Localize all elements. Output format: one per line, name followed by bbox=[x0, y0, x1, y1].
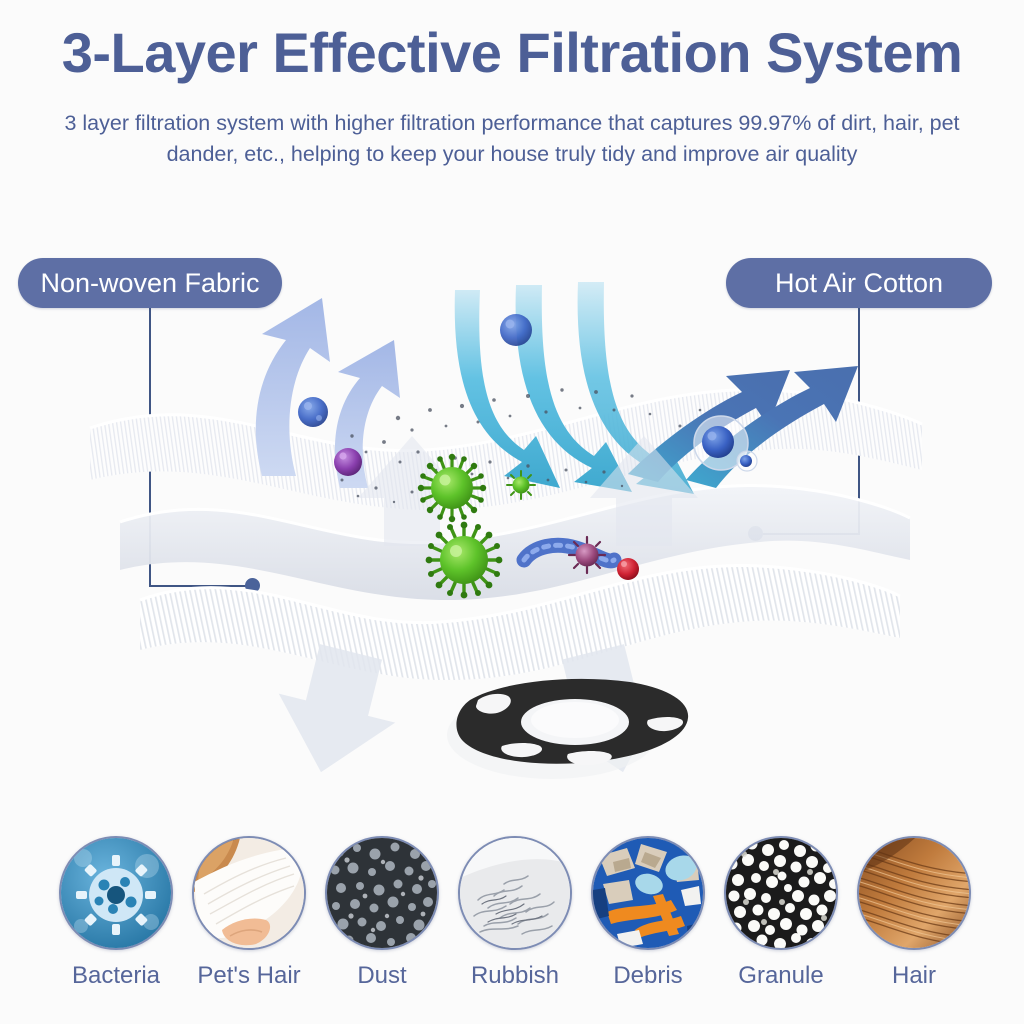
filter-layers-illustration bbox=[0, 230, 1024, 830]
filtered-item-dust[interactable]: Dust bbox=[318, 836, 446, 990]
filtered-item-label: Hair bbox=[850, 962, 978, 990]
pet-hair-icon bbox=[192, 836, 306, 950]
germ-purple bbox=[334, 448, 362, 476]
filtered-item-bacteria[interactable]: Bacteria bbox=[52, 836, 180, 990]
filtered-item-label: Bacteria bbox=[52, 962, 180, 990]
debris-icon bbox=[591, 836, 705, 950]
filtered-item-pets-hair[interactable]: Pet's Hair bbox=[185, 836, 313, 990]
filtered-item-label: Pet's Hair bbox=[185, 962, 313, 990]
filtered-items-row: Bacteria bbox=[0, 836, 1024, 1006]
page-title: 3-Layer Effective Filtration System bbox=[0, 24, 1024, 83]
filtered-item-label: Rubbish bbox=[451, 962, 579, 990]
page-subtitle: 3 layer filtration system with higher fi… bbox=[40, 108, 984, 170]
virus-green-small bbox=[507, 471, 535, 499]
cell-red bbox=[617, 558, 639, 580]
rubbish-icon bbox=[458, 836, 572, 950]
virus-blue-cluster bbox=[298, 397, 328, 427]
granule-icon bbox=[724, 836, 838, 950]
virus-green-large bbox=[418, 454, 486, 522]
filtered-item-label: Dust bbox=[318, 962, 446, 990]
infographic-root: 3-Layer Effective Filtration System 3 la… bbox=[0, 0, 1024, 1024]
filtered-item-debris[interactable]: Debris bbox=[584, 836, 712, 990]
filtered-item-granule[interactable]: Granule bbox=[717, 836, 845, 990]
filtered-item-rubbish[interactable]: Rubbish bbox=[451, 836, 579, 990]
filtered-item-label: Granule bbox=[717, 962, 845, 990]
dust-icon bbox=[325, 836, 439, 950]
filter-gasket-frame bbox=[447, 679, 688, 779]
virus-blue-cluster-2 bbox=[500, 314, 532, 346]
germ-magenta bbox=[569, 537, 605, 573]
virus-green-lower bbox=[426, 522, 503, 599]
filtered-item-hair[interactable]: Hair bbox=[850, 836, 978, 990]
filtered-item-label: Debris bbox=[584, 962, 712, 990]
hair-icon bbox=[857, 836, 971, 950]
bacteria-icon bbox=[59, 836, 173, 950]
